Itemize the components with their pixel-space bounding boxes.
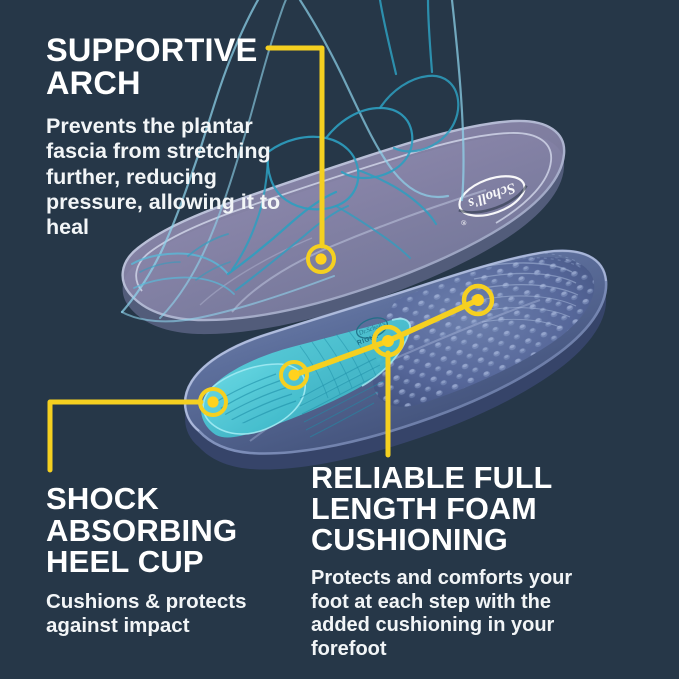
callout-foam-title-line2: LENGTH FOAM	[311, 492, 537, 526]
callout-arch-title: SUPPORTIVE ARCH	[46, 34, 296, 100]
callout-foam-title: RELIABLE FULL LENGTH FOAM CUSHIONING	[311, 463, 611, 556]
callout-supportive-arch: SUPPORTIVE ARCH Prevents the plantar fas…	[46, 34, 296, 240]
callout-foam-body: Protects and comforts your foot at each …	[311, 567, 611, 661]
callout-arch-title-line2: ARCH	[46, 65, 141, 101]
callout-heel-title-line2: ABSORBING	[46, 513, 237, 548]
infographic-canvas: Scholl's ®	[0, 0, 679, 679]
connector-heel	[50, 402, 201, 470]
callout-foam-title-line1: RELIABLE FULL	[311, 461, 553, 495]
callout-heel-title-line3: HEEL CUP	[46, 544, 204, 579]
callout-foam-title-line3: CUSHIONING	[311, 523, 508, 557]
callout-shock-absorbing-heel-cup: SHOCK ABSORBING HEEL CUP Cushions & prot…	[46, 483, 292, 638]
callout-heel-title-line1: SHOCK	[46, 481, 159, 516]
callout-heel-title: SHOCK ABSORBING HEEL CUP	[46, 483, 292, 578]
callout-arch-body: Prevents the plantar fascia from stretch…	[46, 114, 296, 240]
callout-reliable-full-length-foam-cushioning: RELIABLE FULL LENGTH FOAM CUSHIONING Pro…	[311, 463, 611, 661]
callout-heel-body: Cushions & protects against impact	[46, 590, 292, 638]
callout-arch-title-line1: SUPPORTIVE	[46, 32, 258, 68]
